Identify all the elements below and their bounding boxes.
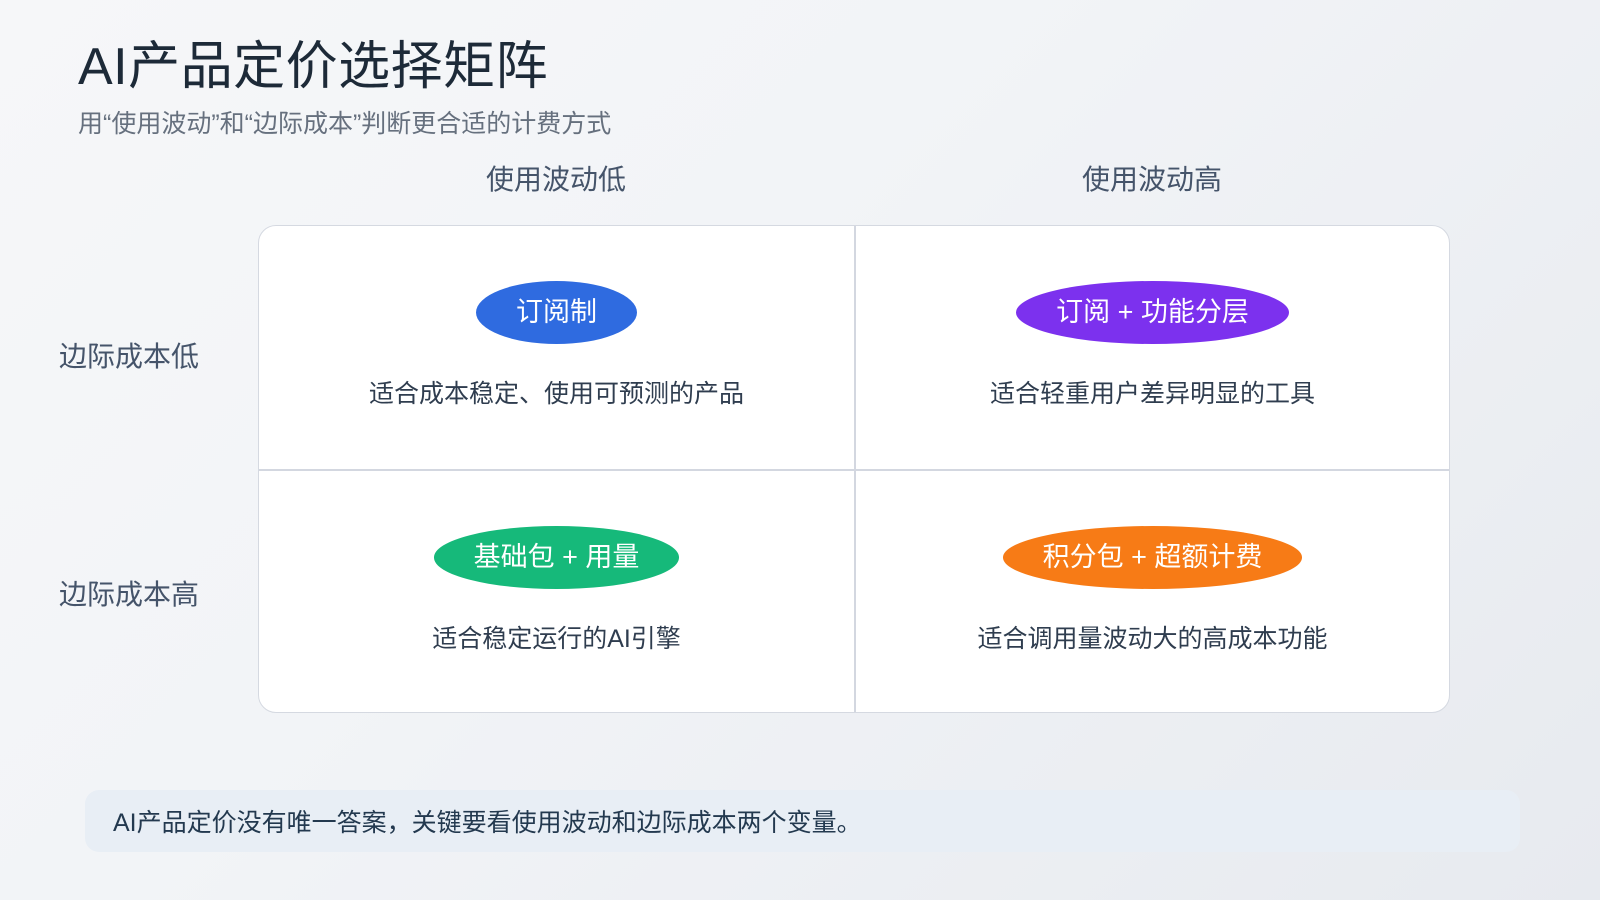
- footer-banner: AI产品定价没有唯一答案，关键要看使用波动和边际成本两个变量。: [85, 790, 1520, 852]
- pricing-matrix-card: 订阅制 适合成本稳定、使用可预测的产品 订阅 + 功能分层 适合轻重用户差异明显…: [258, 225, 1450, 713]
- footer-summary-text: AI产品定价没有唯一答案，关键要看使用波动和边际成本两个变量。: [113, 803, 862, 839]
- quadrant-description: 适合轻重用户差异明显的工具: [990, 374, 1315, 410]
- quadrant-description: 适合成本稳定、使用可预测的产品: [369, 374, 744, 410]
- quadrant-low-volatility-low-cost[interactable]: 订阅制 适合成本稳定、使用可预测的产品: [259, 226, 854, 469]
- pricing-model-badge-subscription-tiered: 订阅 + 功能分层: [1016, 281, 1289, 344]
- quadrant-description: 适合稳定运行的AI引擎: [432, 619, 681, 655]
- quadrant-high-volatility-low-cost[interactable]: 订阅 + 功能分层 适合轻重用户差异明显的工具: [854, 226, 1449, 469]
- page-header: AI产品定价选择矩阵 用“使用波动”和“边际成本”判断更合适的计费方式: [78, 38, 978, 140]
- row-header-high-marginal-cost: 边际成本高: [0, 573, 258, 613]
- column-header-low-volatility: 使用波动低: [258, 158, 854, 198]
- row-header-low-marginal-cost: 边际成本低: [0, 335, 258, 375]
- pricing-model-badge-base-plus-usage: 基础包 + 用量: [434, 526, 680, 589]
- quadrant-description: 适合调用量波动大的高成本功能: [977, 619, 1327, 655]
- pricing-model-badge-credits-plus-overage: 积分包 + 超额计费: [1003, 526, 1303, 589]
- pricing-model-badge-subscription: 订阅制: [476, 281, 637, 344]
- page-title: AI产品定价选择矩阵: [78, 38, 978, 98]
- column-header-row: 使用波动低 使用波动高: [258, 158, 1450, 198]
- quadrant-high-volatility-high-cost[interactable]: 积分包 + 超额计费 适合调用量波动大的高成本功能: [854, 469, 1449, 712]
- row-header-column: 边际成本低 边际成本高: [0, 225, 258, 713]
- page-subtitle: 用“使用波动”和“边际成本”判断更合适的计费方式: [78, 108, 978, 141]
- quadrant-low-volatility-high-cost[interactable]: 基础包 + 用量 适合稳定运行的AI引擎: [259, 469, 854, 712]
- column-header-high-volatility: 使用波动高: [854, 158, 1450, 198]
